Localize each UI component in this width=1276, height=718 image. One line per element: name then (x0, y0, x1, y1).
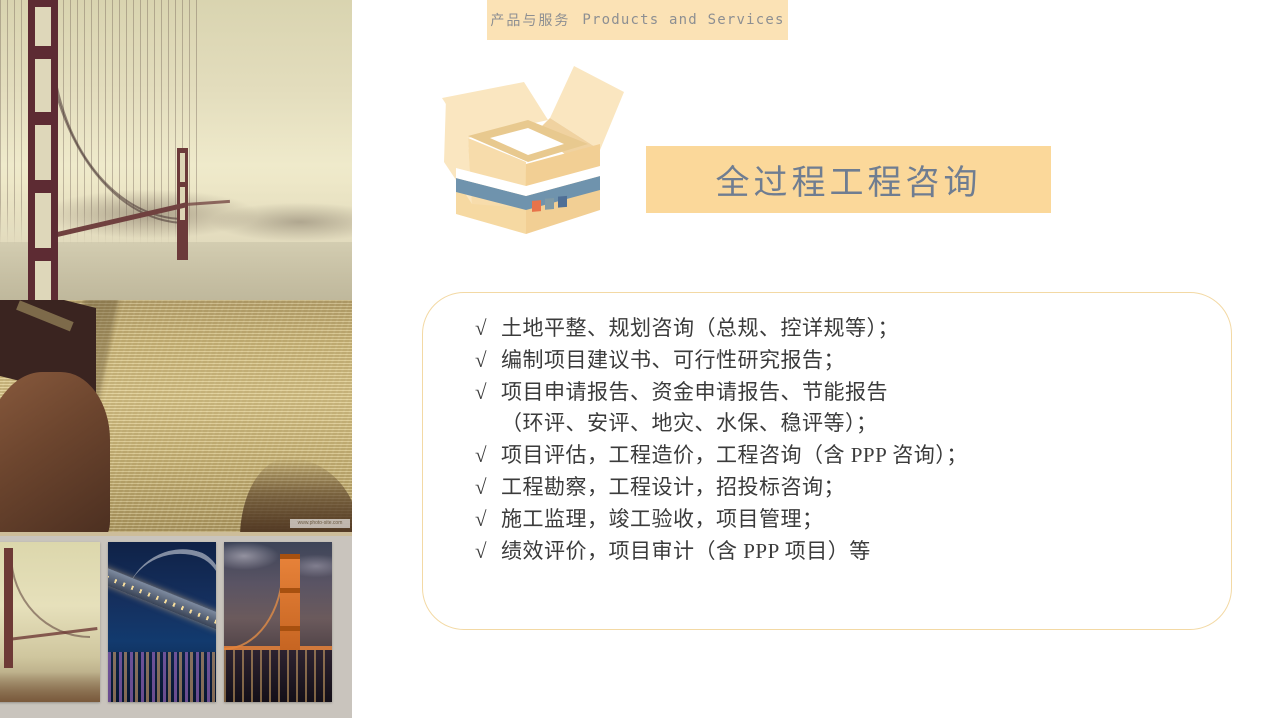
list-item-label: 项目评估，工程造价，工程咨询（含 PPP 咨询）； (501, 443, 968, 467)
check-icon: √ (475, 345, 501, 377)
photo-bridge-sepia (0, 0, 352, 300)
list-item: √编制项目建议书、可行性研究报告； (475, 345, 1211, 377)
list-item-label: （环评、安评、地灾、水保、稳评等）； (501, 411, 878, 435)
check-icon: √ (475, 504, 501, 536)
check-icon: √ (475, 440, 501, 472)
photo-watermark: www.photo-site.com (290, 519, 350, 528)
list-item-label: 工程勘察，工程设计，招投标咨询； (501, 475, 845, 499)
check-icon: √ (475, 536, 501, 568)
slide-root: www.photo-site.com (0, 0, 1276, 718)
check-icon: √ (475, 472, 501, 504)
list-item-label: 项目申请报告、资金申请报告、节能报告 (501, 380, 888, 404)
page-title: 全过程工程咨询 (716, 155, 982, 204)
list-item-label: 土地平整、规划咨询（总规、控详规等）； (501, 316, 899, 340)
list-item: √项目评估，工程造价，工程咨询（含 PPP 咨询）； (475, 440, 1211, 472)
check-icon: √ (475, 313, 501, 345)
services-card: √土地平整、规划咨询（总规、控详规等）； √编制项目建议书、可行性研究报告； √… (422, 292, 1232, 630)
photo-bridge-water: www.photo-site.com (0, 300, 352, 532)
bridge-thumb-sepia[interactable] (0, 542, 100, 702)
list-item-label: 编制项目建议书、可行性研究报告； (501, 348, 845, 372)
section-badge: 产品与服务 Products and Services (487, 0, 788, 40)
check-icon: √ (475, 377, 501, 409)
thumbnail-strip (0, 536, 352, 718)
services-list: √土地平整、规划咨询（总规、控详规等）； √编制项目建议书、可行性研究报告； √… (475, 313, 1211, 567)
bridge-thumb-night-blue[interactable] (108, 542, 216, 702)
list-item: √项目申请报告、资金申请报告、节能报告 (475, 377, 1211, 409)
section-badge-cn-label: 产品与服务 (490, 10, 570, 30)
list-item: √施工监理，竣工验收，项目管理； (475, 504, 1211, 536)
section-badge-en-label: Products and Services (582, 12, 784, 28)
list-item: √绩效评价，项目审计（含 PPP 项目）等 (475, 536, 1211, 568)
open-box-icon (428, 58, 628, 243)
title-banner: 全过程工程咨询 (646, 146, 1051, 213)
list-item-continuation: （环评、安评、地灾、水保、稳评等）； (475, 408, 1211, 440)
cliff-rock (0, 372, 110, 532)
list-item-label: 绩效评价，项目审计（含 PPP 项目）等 (501, 539, 871, 563)
list-item: √工程勘察，工程设计，招投标咨询； (475, 472, 1211, 504)
photo-column: www.photo-site.com (0, 0, 352, 718)
list-item-label: 施工监理，竣工验收，项目管理； (501, 507, 824, 531)
list-item: √土地平整、规划咨询（总规、控详规等）； (475, 313, 1211, 345)
bridge-thumb-orange-dusk[interactable] (224, 542, 332, 702)
near-tower (28, 0, 58, 300)
